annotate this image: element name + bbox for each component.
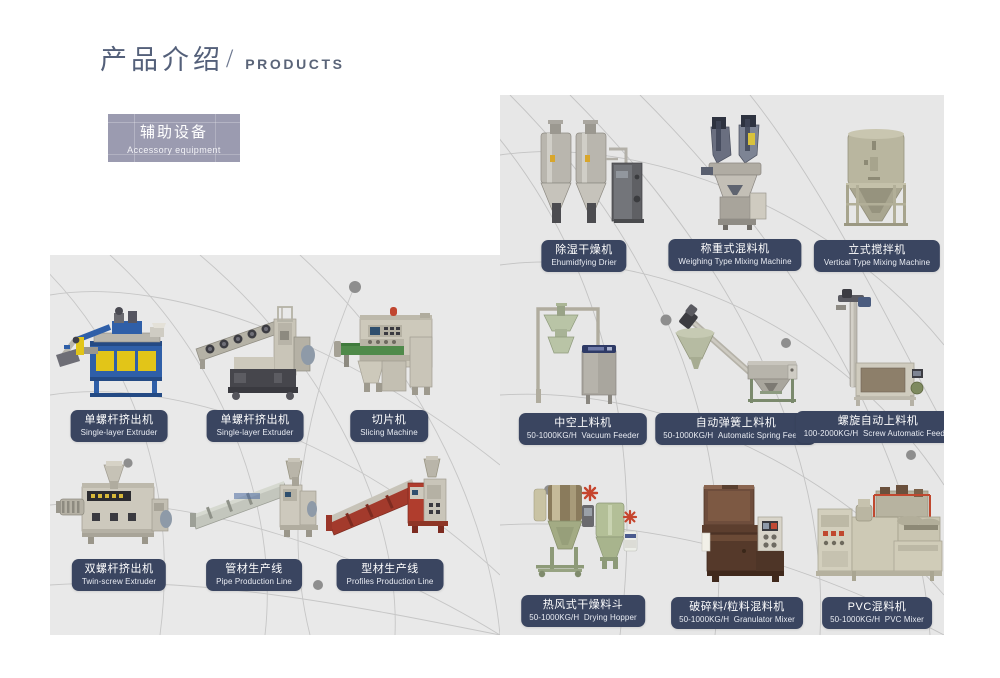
category-name-en: Accessory equipment [127,145,221,155]
product-label[interactable]: 自动弹簧上料机 50-1000KG/H Automatic Spring Fee… [655,413,816,445]
slicing-machine-green-belt-icon [324,297,454,407]
vertical-mixer-tank-icon [812,115,942,233]
product-name-en: 50-1000KG/H Drying Hopper [529,613,637,622]
page-title-en: PRODUCTS [245,56,344,74]
product-label[interactable]: 单螺杆挤出机 Single-layer Extruder [207,410,304,442]
weighing-mixer-icon [665,107,805,232]
product-name-en: Weighing Type Mixing Machine [678,257,791,266]
spring-feeder-icon [660,285,812,407]
drying-hopper-pair-icon [508,475,658,587]
product-name-en: Ehumidfying Drier [551,258,616,267]
product-label[interactable]: 除湿干燥机 Ehumidfying Drier [541,240,626,272]
vacuum-feeder-icon [508,285,658,407]
product-card[interactable]: 称重式混料机 Weighing Type Mixing Machine [665,107,805,260]
page-title-cn: 产品介绍 [100,47,224,74]
product-card[interactable]: 破碎料/粒料混料机 50-1000KG/H Granulator Mixer [662,477,812,617]
product-card[interactable]: 管材生产线 Pipe Production Line [188,455,320,575]
product-card[interactable]: PVC混料机 50-1000KG/H PVC Mixer [810,477,944,617]
extruder-blue-yellow-icon [54,297,184,407]
product-label[interactable]: 称重式混料机 Weighing Type Mixing Machine [668,239,801,271]
product-name-cn: 双螺杆挤出机 [82,563,156,576]
twin-hopper-dehumidifying-drier-icon [514,115,654,230]
product-name-cn: 称重式混料机 [678,243,791,256]
product-card[interactable]: 立式搅拌机 Vertical Type Mixing Machine [812,115,942,260]
product-name-cn: 热风式干燥料斗 [529,599,637,612]
profiles-production-line-red-icon [324,455,456,550]
product-name-en: Profiles Production Line [347,577,434,586]
pipe-production-line-icon [188,455,320,550]
product-card[interactable]: 螺旋自动上料机 100-2000KG/H Screw Automatic Fee… [812,283,944,435]
screw-automatic-feeder-icon [812,283,944,407]
product-name-cn: 切片机 [360,414,418,427]
product-label[interactable]: 切片机 Slicing Machine [350,410,428,442]
product-name-en: Pipe Production Line [216,577,292,586]
product-name-en: Single-layer Extruder [81,428,158,437]
product-name-en: Twin-screw Extruder [82,577,156,586]
product-label[interactable]: 单螺杆挤出机 Single-layer Extruder [71,410,168,442]
product-label[interactable]: 立式搅拌机 Vertical Type Mixing Machine [814,240,940,272]
product-card[interactable]: 切片机 Slicing Machine [324,297,454,427]
product-label[interactable]: 破碎料/粒料混料机 50-1000KG/H Granulator Mixer [671,597,803,629]
product-card[interactable]: 除湿干燥机 Ehumidfying Drier [514,115,654,260]
product-name-en: Single-layer Extruder [217,428,294,437]
pvc-mixer-unit-icon [810,477,944,587]
product-label[interactable]: 热风式干燥料斗 50-1000KG/H Drying Hopper [521,595,645,627]
product-name-cn: 自动弹簧上料机 [663,417,808,430]
production-line-panel: 单螺杆挤出机 Single-layer Extruder [50,255,500,635]
twin-screw-extruder-icon [54,455,184,550]
product-name-en: 100-2000KG/H Screw Automatic Feeder [804,429,944,438]
roller-conveyor-machine-icon [190,297,320,407]
product-label[interactable]: 中空上料机 50-1000KG/H Vacuum Feeder [519,413,647,445]
product-name-cn: 型材生产线 [347,563,434,576]
product-name-cn: 单螺杆挤出机 [217,414,294,427]
product-card[interactable]: 中空上料机 50-1000KG/H Vacuum Feeder [508,285,658,435]
category-badge: 辅助设备 Accessory equipment [108,114,240,162]
product-name-cn: 除湿干燥机 [551,244,616,257]
accessory-equipment-panel: 除湿干燥机 Ehumidfying Drier [500,95,944,635]
product-card[interactable]: 单螺杆挤出机 Single-layer Extruder [54,297,184,427]
product-name-en: Slicing Machine [360,428,418,437]
page-title: 产品介绍 / PRODUCTS [100,44,345,74]
title-slash: / [226,44,233,74]
product-name-cn: 破碎料/粒料混料机 [679,601,795,614]
product-card[interactable]: 双螺杆挤出机 Twin-screw Extruder [54,455,184,575]
product-name-en: 50-1000KG/H Granulator Mixer [679,615,795,624]
product-card[interactable]: 单螺杆挤出机 Single-layer Extruder [190,297,320,427]
product-label[interactable]: 螺旋自动上料机 100-2000KG/H Screw Automatic Fee… [796,411,944,443]
product-name-cn: 螺旋自动上料机 [804,415,944,428]
product-name-cn: PVC混料机 [830,601,924,614]
product-label[interactable]: PVC混料机 50-1000KG/H PVC Mixer [822,597,932,629]
product-card[interactable]: 自动弹簧上料机 50-1000KG/H Automatic Spring Fee… [660,285,812,435]
product-label[interactable]: 双螺杆挤出机 Twin-screw Extruder [72,559,166,591]
category-name-cn: 辅助设备 [140,121,208,142]
product-label[interactable]: 管材生产线 Pipe Production Line [206,559,302,591]
product-name-en: 50-1000KG/H Automatic Spring Feeder [663,431,808,440]
product-card[interactable]: 型材生产线 Profiles Production Line [324,455,456,575]
product-name-cn: 单螺杆挤出机 [81,414,158,427]
product-name-cn: 中空上料机 [527,417,639,430]
granulator-mixer-brown-icon [662,477,812,587]
product-name-cn: 立式搅拌机 [824,244,930,257]
product-card[interactable]: 热风式干燥料斗 50-1000KG/H Drying Hopper [508,475,658,615]
product-name-en: 50-1000KG/H Vacuum Feeder [527,431,639,440]
product-name-en: 50-1000KG/H PVC Mixer [830,615,924,624]
product-label[interactable]: 型材生产线 Profiles Production Line [337,559,444,591]
product-name-cn: 管材生产线 [216,563,292,576]
product-name-en: Vertical Type Mixing Machine [824,258,930,267]
